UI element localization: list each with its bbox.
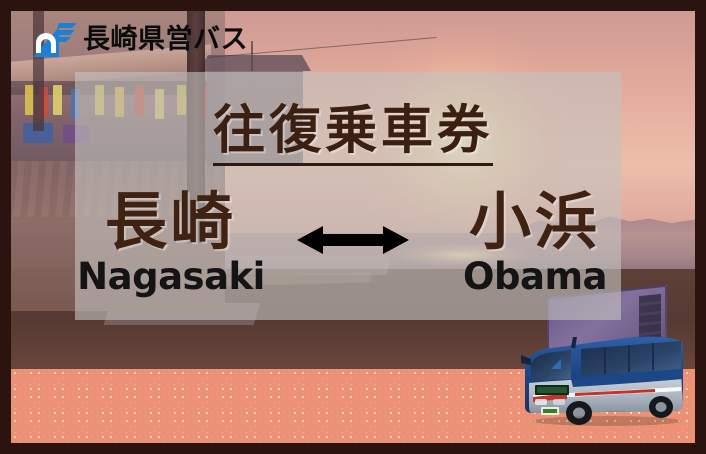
destination-name-en: Obama bbox=[417, 258, 653, 295]
ticket-title-wrap: 往復乗車券 bbox=[11, 105, 695, 166]
brand-lockup: 長崎県営バス bbox=[25, 19, 248, 59]
route-row: 長崎 Nagasaki 小浜 Obama bbox=[11, 189, 695, 295]
round-trip-ticket: 長崎県営バス 往復乗車券 長崎 Nagasaki 小浜 Obama bbox=[0, 0, 706, 454]
ticket-title: 往復乗車券 bbox=[213, 105, 493, 166]
rooftop-mast bbox=[251, 41, 253, 71]
origin-name-ja: 長崎 bbox=[53, 189, 289, 254]
origin-station: 長崎 Nagasaki bbox=[53, 189, 289, 295]
origin-name-en: Nagasaki bbox=[53, 258, 289, 295]
nagasaki-kenei-bus-wing-logo-icon bbox=[25, 19, 77, 59]
destination-station: 小浜 Obama bbox=[417, 189, 653, 295]
ticket-inner-frame: 長崎県営バス 往復乗車券 長崎 Nagasaki 小浜 Obama bbox=[11, 11, 695, 443]
brand-name-label: 長崎県営バス bbox=[83, 26, 248, 53]
double-headed-arrow-icon bbox=[289, 189, 417, 257]
highway-coach-bus-photo-icon bbox=[515, 329, 687, 427]
destination-name-ja: 小浜 bbox=[417, 189, 653, 254]
